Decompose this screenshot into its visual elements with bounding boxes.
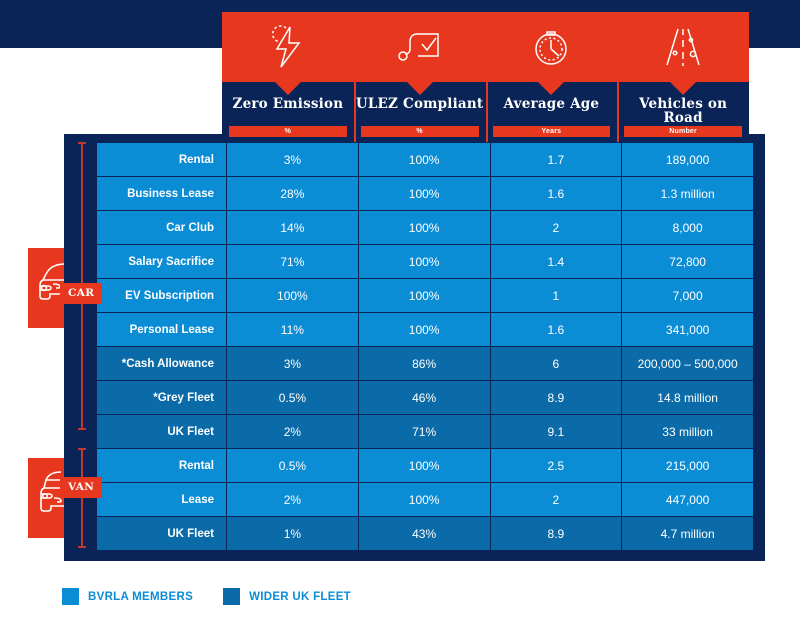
table-row: Lease2%100%2447,000 <box>97 483 754 517</box>
cell-zero-emission: 2% <box>227 415 359 449</box>
cell-zero-emission: 2% <box>227 483 359 517</box>
header-column-zero-emission: Zero Emission % <box>222 12 354 142</box>
table-row: *Cash Allowance3%86%6200,000 – 500,000 <box>97 347 754 381</box>
row-label: Business Lease <box>97 177 227 211</box>
cell-ulez: 100% <box>358 143 490 177</box>
cell-average-age: 1.6 <box>490 313 622 347</box>
legend-swatch-icon <box>62 588 79 605</box>
table-row: Business Lease28%100%1.61.3 million <box>97 177 754 211</box>
table-row: Rental3%100%1.7189,000 <box>97 143 754 177</box>
cell-ulez: 100% <box>358 245 490 279</box>
cell-zero-emission: 0.5% <box>227 381 359 415</box>
header-unit: Number <box>624 126 742 137</box>
cell-vehicles: 7,000 <box>622 279 754 313</box>
cell-zero-emission: 11% <box>227 313 359 347</box>
legend: BVRLA MEMBERS WIDER UK FLEET <box>62 588 351 605</box>
header-column-average-age: Average Age Years <box>486 12 618 142</box>
row-label: UK Fleet <box>97 415 227 449</box>
row-label: Personal Lease <box>97 313 227 347</box>
table-row: UK Fleet2%71%9.133 million <box>97 415 754 449</box>
header-title: Average Age <box>504 98 600 112</box>
cell-vehicles: 189,000 <box>622 143 754 177</box>
cell-zero-emission: 71% <box>227 245 359 279</box>
cell-average-age: 2.5 <box>490 449 622 483</box>
cell-zero-emission: 28% <box>227 177 359 211</box>
cell-vehicles: 200,000 – 500,000 <box>622 347 754 381</box>
header-notch <box>670 82 696 95</box>
row-label: Rental <box>97 449 227 483</box>
exhaust-check-icon <box>354 12 486 82</box>
cell-zero-emission: 100% <box>227 279 359 313</box>
row-label: UK Fleet <box>97 517 227 551</box>
legend-label: WIDER UK FLEET <box>249 591 351 603</box>
header-title: Zero Emission <box>233 98 344 112</box>
cell-average-age: 6 <box>490 347 622 381</box>
table-row: Car Club14%100%28,000 <box>97 211 754 245</box>
row-label: *Grey Fleet <box>97 381 227 415</box>
group-bracket-van <box>81 448 83 548</box>
header-notch <box>275 82 301 95</box>
cell-ulez: 100% <box>358 313 490 347</box>
cell-average-age: 8.9 <box>490 517 622 551</box>
cell-ulez: 43% <box>358 517 490 551</box>
cell-zero-emission: 0.5% <box>227 449 359 483</box>
row-label: Car Club <box>97 211 227 245</box>
cell-average-age: 1 <box>490 279 622 313</box>
cell-average-age: 2 <box>490 483 622 517</box>
row-label: *Cash Allowance <box>97 347 227 381</box>
header-notch <box>407 82 433 95</box>
cell-zero-emission: 1% <box>227 517 359 551</box>
header-column-vehicles-on-road: Vehicles on Road Number <box>617 12 749 142</box>
header-unit: % <box>361 126 479 137</box>
table-row: Salary Sacrifice71%100%1.472,800 <box>97 245 754 279</box>
header-unit: % <box>229 126 347 137</box>
cell-ulez: 100% <box>358 177 490 211</box>
legend-swatch-icon <box>223 588 240 605</box>
stopwatch-icon <box>486 12 618 82</box>
cell-vehicles: 1.3 million <box>622 177 754 211</box>
table-row: *Grey Fleet0.5%46%8.914.8 million <box>97 381 754 415</box>
legend-item-members: BVRLA MEMBERS <box>62 588 193 605</box>
cell-vehicles: 447,000 <box>622 483 754 517</box>
legend-label: BVRLA MEMBERS <box>88 591 193 603</box>
header-notch <box>538 82 564 95</box>
header-title: ULEZ Compliant <box>356 98 483 112</box>
table-row: Personal Lease11%100%1.6341,000 <box>97 313 754 347</box>
infographic-canvas: CAR VAN Zero <box>0 0 800 632</box>
table-row: UK Fleet1%43%8.94.7 million <box>97 517 754 551</box>
header-column-ulez-compliant: ULEZ Compliant % <box>354 12 486 142</box>
road-icon <box>617 12 749 82</box>
cell-ulez: 100% <box>358 279 490 313</box>
category-chip-car: CAR <box>60 283 102 304</box>
cell-ulez: 100% <box>358 449 490 483</box>
cell-vehicles: 33 million <box>622 415 754 449</box>
row-label: Salary Sacrifice <box>97 245 227 279</box>
cell-vehicles: 4.7 million <box>622 517 754 551</box>
lightning-bolt-icon <box>222 12 354 82</box>
table-van: Rental0.5%100%2.5215,000Lease2%100%2447,… <box>96 448 753 551</box>
category-chip-van: VAN <box>60 477 102 498</box>
cell-vehicles: 14.8 million <box>622 381 754 415</box>
table-car: Rental3%100%1.7189,000Business Lease28%1… <box>96 142 753 449</box>
row-label: EV Subscription <box>97 279 227 313</box>
cell-vehicles: 8,000 <box>622 211 754 245</box>
cell-average-age: 9.1 <box>490 415 622 449</box>
cell-zero-emission: 3% <box>227 347 359 381</box>
cell-ulez: 71% <box>358 415 490 449</box>
cell-ulez: 86% <box>358 347 490 381</box>
cell-zero-emission: 3% <box>227 143 359 177</box>
cell-ulez: 46% <box>358 381 490 415</box>
cell-average-age: 1.4 <box>490 245 622 279</box>
row-label: Rental <box>97 143 227 177</box>
row-label: Lease <box>97 483 227 517</box>
cell-average-age: 1.6 <box>490 177 622 211</box>
header-unit: Years <box>493 126 611 137</box>
cell-zero-emission: 14% <box>227 211 359 245</box>
cell-average-age: 1.7 <box>490 143 622 177</box>
cell-average-age: 8.9 <box>490 381 622 415</box>
cell-vehicles: 341,000 <box>622 313 754 347</box>
table-row: Rental0.5%100%2.5215,000 <box>97 449 754 483</box>
cell-vehicles: 215,000 <box>622 449 754 483</box>
cell-ulez: 100% <box>358 211 490 245</box>
cell-vehicles: 72,800 <box>622 245 754 279</box>
cell-average-age: 2 <box>490 211 622 245</box>
header-title: Vehicles on Road <box>617 98 749 125</box>
column-header-block: Zero Emission % ULEZ Compliant % <box>222 12 749 142</box>
table-row: EV Subscription100%100%17,000 <box>97 279 754 313</box>
cell-ulez: 100% <box>358 483 490 517</box>
legend-item-wider: WIDER UK FLEET <box>223 588 351 605</box>
